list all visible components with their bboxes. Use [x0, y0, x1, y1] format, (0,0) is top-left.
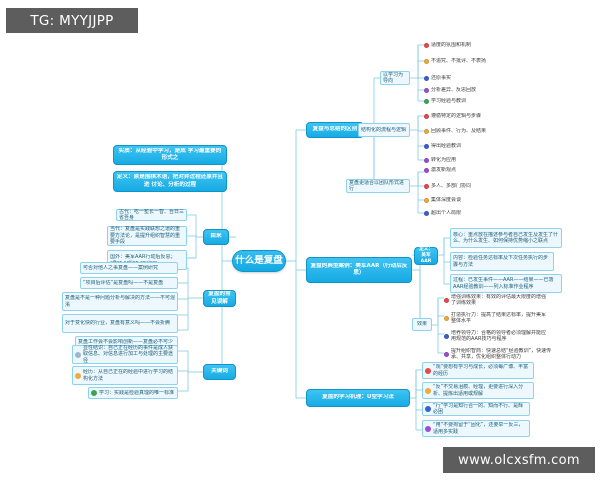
node-definition-label: 定义：原是围棋术语，把对弈过程还原并且进 讨论、分析的过程: [116, 174, 224, 188]
leaf-effect-1[interactable]: 增强训练效果：有效的评估最大限度的增强了训练效果: [444, 292, 548, 308]
leaf-effect-3[interactable]: 培养领导力：合格的领导者必须理解并能应用规范的AAR技巧与程序: [444, 328, 548, 344]
u-learning-item-1[interactable]: “观”要想有学习与成长，必须每广博、丰富的经历: [422, 362, 534, 379]
node-misconceptions[interactable]: 复盘的常见误解: [203, 290, 236, 307]
mindmap-canvas: 什么是复盘 实质：从经验中学习，是成 学习最重要的形式之 定义：原是围棋术语，把…: [0, 0, 600, 480]
bullet-icon: [424, 43, 429, 48]
leaf-structured-4[interactable]: 转化为应用: [424, 155, 480, 165]
u-learning-item-2[interactable]: “反”不交易泪痕、经理，更要进行深入分析、提炼出适用或规解: [422, 382, 534, 399]
bullet-icon: [424, 88, 429, 93]
node-learning-mechanism-label: 复盘的学习机理：U型学习法: [309, 394, 407, 401]
bullet-icon: [424, 144, 429, 149]
node-misconceptions-label: 复盘的常见误解: [206, 291, 233, 305]
bullet-icon: [424, 198, 429, 203]
bullet-icon: [424, 129, 429, 134]
leaf-learning-2[interactable]: 不追究、不批评、不表扬: [424, 56, 502, 66]
misconception-item-2[interactable]: “项目后评估”是复盘吗——不是复盘: [80, 277, 178, 289]
triangle-icon: [75, 352, 81, 358]
leaf-learning-1[interactable]: 适度的氛围和机制: [424, 40, 496, 50]
leaf-structured-2[interactable]: 回顾事件、行为、及结果: [424, 126, 500, 136]
misconception-item-3[interactable]: 复盘是不是一种问题分析与解决的方法——不可混淆: [62, 292, 178, 311]
dot-icon: [425, 406, 431, 412]
bullet-icon: [424, 114, 429, 119]
leaf-team-3[interactable]: 超出个人局限: [424, 208, 484, 218]
bullet-icon: [424, 59, 429, 64]
node-keywords-label: 关键词: [206, 368, 233, 375]
node-learning-mechanism[interactable]: 复盘的学习机理：U型学习法: [306, 389, 410, 407]
leaf-learning-3[interactable]: 还原事实: [424, 73, 484, 83]
node-essence-label: 实质：从经验中学习，是成 学习最重要的形式之: [116, 148, 224, 162]
bullet-icon: [424, 158, 429, 163]
dot-icon: [425, 426, 431, 432]
bullet-icon: [424, 76, 429, 81]
leaf-team-4[interactable]: 激发新观点: [424, 165, 480, 175]
aar-process[interactable]: 过程：已发生事件——AAR——结果——已落AAR经验教训——列入标准作业程序: [450, 274, 562, 293]
keyword-item-1[interactable]: 显性结识：自己正在经历的事件是成人获取信息、对信息进行加工与处理的主要途径: [72, 345, 178, 364]
leaf-effect-2[interactable]: 打造执行力：提高了结果达标率，提升美军整体水平: [444, 310, 548, 326]
aar-content[interactable]: 内容：检验任务达标率及下次任务执行的步骤与方法: [450, 252, 554, 271]
u-learning-item-3[interactable]: “行”学习是知行合一的、知而不行、是辉必困: [422, 402, 530, 416]
node-aar-case[interactable]: 复盘的典型案例：美军AAR（行动后反思）: [306, 257, 412, 283]
u-learning-item-4[interactable]: “用”不要拘留于“固化”，还要举一反三，适用多实践: [422, 420, 530, 437]
subnode-structured-process[interactable]: 结构化的流程与逻辑: [358, 123, 410, 137]
node-review-vs-summary[interactable]: 复盘与总结的区别: [306, 122, 364, 138]
bullet-icon: [444, 316, 449, 321]
leaf-team-2[interactable]: 集体深度会谈: [424, 195, 484, 205]
watermark-bottom: www.olcxsfm.com: [443, 447, 595, 473]
keyword-item-3[interactable]: 学习：实践是检验真理的唯一标准: [88, 387, 178, 399]
leaf-structured-1[interactable]: 遵循特定的逻辑与步骤: [424, 111, 496, 121]
watermark-bottom-label: www.olcxsfm.com: [458, 453, 580, 468]
dot-icon: [425, 368, 431, 374]
keyword-item-2[interactable]: 经历：从自己正在的经验中进行学习的结构化方法: [72, 366, 178, 385]
root-node[interactable]: 什么是复盘: [232, 250, 286, 272]
dot-icon: [425, 388, 431, 394]
node-origin-label: 由来: [206, 233, 226, 240]
leaf-structured-3[interactable]: 得出经验教训: [424, 141, 486, 151]
subnode-aar-definition[interactable]: 定义：美军AAR: [414, 247, 438, 265]
dot-icon: [75, 373, 81, 379]
check-icon: [91, 390, 97, 396]
bullet-icon: [424, 99, 429, 104]
subnode-aar-effect[interactable]: 效果: [412, 318, 432, 331]
node-essence[interactable]: 实质：从经验中学习，是成 学习最重要的形式之: [113, 145, 227, 165]
bullet-icon: [444, 334, 449, 339]
origin-child-modern[interactable]: 当代：复盘是实践联想之道的重要方法论，是提升组织智慧的重要手段: [107, 226, 187, 246]
leaf-learning-5[interactable]: 学习经验与教训: [424, 96, 494, 106]
subnode-team-format[interactable]: 复盘更适合以团队形式进行: [346, 179, 410, 193]
bullet-icon: [444, 352, 449, 357]
leaf-effect-4[interactable]: 提升组织智商：快速总结“经验教训”，快速传承、共享，优化组织整体行动力: [444, 346, 552, 362]
misconception-item-4[interactable]: 对于变化快的行业，复盘有意义吗——不会折腾: [62, 314, 178, 333]
root-label: 什么是复盘: [233, 255, 285, 267]
subnode-learning-oriented[interactable]: 以学习为导向: [380, 71, 410, 85]
bullet-icon: [424, 184, 429, 189]
node-definition[interactable]: 定义：原是围棋术语，把对弈过程还原并且进 讨论、分析的过程: [113, 171, 227, 192]
watermark-top: TG: MYYJJPP: [6, 8, 138, 33]
node-keywords[interactable]: 关键词: [203, 364, 236, 380]
bullet-icon: [424, 168, 429, 173]
misconception-item-1[interactable]: 可否对他人之事复盘——案例研究: [80, 262, 178, 274]
aar-core[interactable]: 核心：重点放在描述参与者自己发生及发生了什么、为什么发生、如何保持优势缩小之联点: [450, 228, 562, 248]
bullet-icon: [444, 298, 449, 303]
watermark-top-label: TG: MYYJJPP: [30, 13, 113, 29]
leaf-team-1[interactable]: 多人、多部门协同: [424, 181, 490, 191]
node-origin[interactable]: 由来: [203, 229, 229, 245]
leaf-learning-4[interactable]: 分析差异、反思回放: [424, 85, 496, 95]
bullet-icon: [424, 211, 429, 216]
node-review-vs-summary-label: 复盘与总结的区别: [309, 126, 361, 133]
origin-child-ancient[interactable]: 古代：吃一堑长一智、吾日三省吾身: [116, 209, 187, 221]
node-aar-case-label: 复盘的典型案例：美军AAR（行动后反思）: [309, 263, 409, 277]
